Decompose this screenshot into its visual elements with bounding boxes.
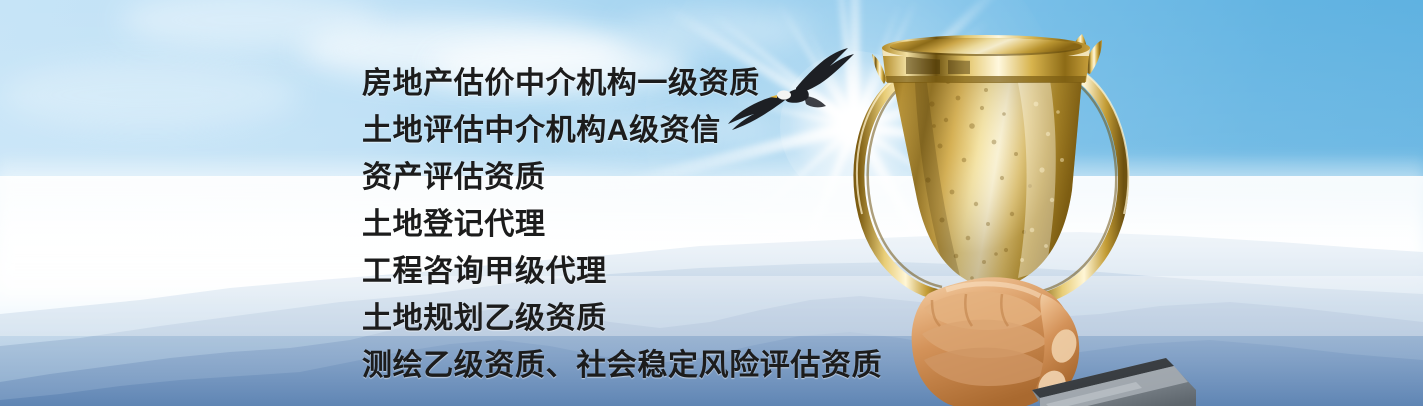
qualification-line: 房地产估价中介机构一级资质 — [362, 60, 922, 107]
qualification-list: 房地产估价中介机构一级资质土地评估中介机构A级资信资产评估资质土地登记代理工程咨… — [362, 60, 922, 389]
qualification-line: 土地评估中介机构A级资信 — [362, 107, 922, 154]
qualification-line: 工程咨询甲级代理 — [362, 248, 922, 295]
qualification-line: 测绘乙级资质、社会稳定风险评估资质 — [362, 342, 922, 389]
promotional-banner: 房地产估价中介机构一级资质土地评估中介机构A级资信资产评估资质土地登记代理工程咨… — [0, 0, 1423, 406]
cloud-icon — [0, 60, 300, 130]
qualification-line: 资产评估资质 — [362, 154, 922, 201]
qualification-line: 土地登记代理 — [362, 201, 922, 248]
qualification-line: 土地规划乙级资质 — [362, 295, 922, 342]
